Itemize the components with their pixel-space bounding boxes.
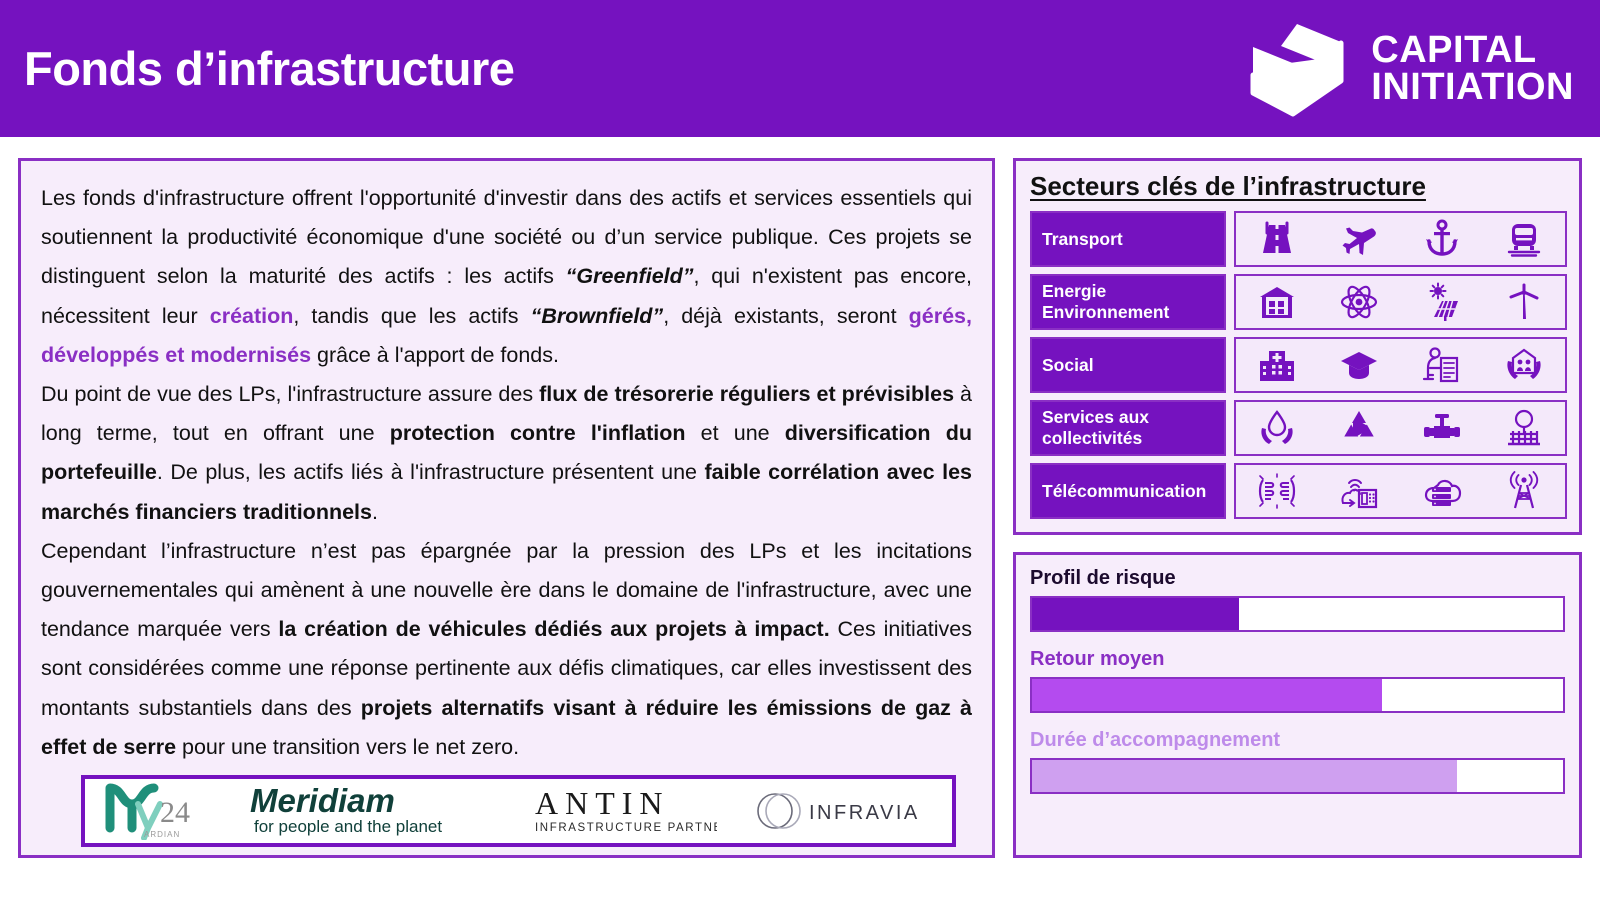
meter-label-profil-de-risque: Profil de risque (1030, 567, 1565, 590)
creation-highlight: création (210, 304, 294, 328)
brand-line-2: INITIATION (1371, 69, 1574, 105)
recycling-icon (1339, 408, 1379, 448)
protection-inflation-bold: protection contre l'inflation (390, 421, 686, 445)
brand-lockup: CAPITAL INITIATION (1237, 21, 1574, 117)
body-text: Les fonds d'infrastructure offrent l'opp… (21, 161, 992, 771)
meter-retour-moyen: Retour moyen (1030, 648, 1565, 713)
page-header: Fonds d’infrastructure CAPITAL INITIATIO… (0, 0, 1600, 137)
highway-icon (1257, 219, 1297, 259)
svg-text:ANTIN: ANTIN (535, 785, 670, 821)
sector-row-telecom: Télécommunication (1030, 463, 1567, 519)
sector-icons-telecom (1234, 463, 1567, 519)
p2-part-a: Du point de vue des LPs, l'infrastructur… (41, 382, 539, 406)
main-text-panel: Les fonds d'infrastructure offrent l'opp… (18, 158, 995, 858)
meter-track-retour-moyen (1030, 677, 1565, 713)
pipeline-valve-icon (1422, 408, 1462, 448)
water-drop-hands-icon (1257, 408, 1297, 448)
sector-icons-services (1234, 400, 1567, 456)
slide-root: Fonds d’infrastructure CAPITAL INITIATIO… (0, 0, 1600, 900)
sector-label-energie-line2: Environnement (1042, 302, 1169, 323)
paragraph-2: Du point de vue des LPs, l'infrastructur… (41, 375, 972, 532)
fiber-optic-icon (1257, 471, 1297, 511)
svg-text:24: 24 (160, 796, 190, 829)
page-title: Fonds d’infrastructure (24, 41, 514, 96)
sector-icons-transport (1234, 211, 1567, 267)
brand-name: CAPITAL INITIATION (1371, 32, 1574, 104)
meter-label-duree-accompagnement: Durée d’accompagnement (1030, 729, 1565, 752)
partner-logo-strip: 24 ARDIAN Meridiam for people and the pl… (81, 775, 956, 847)
sector-label-services-line2: collectivités (1042, 428, 1149, 449)
sector-row-services: Services aux collectivités (1030, 400, 1567, 456)
key-sectors-panel: Secteurs clés de l’infrastructure Transp… (1013, 158, 1582, 535)
svg-text:INFRASTRUCTURE PARTNERS: INFRASTRUCTURE PARTNERS (535, 822, 717, 834)
svg-text:Meridiam: Meridiam (250, 782, 395, 819)
airplane-icon (1339, 219, 1379, 259)
logo-infravia: INFRAVIA (747, 779, 937, 843)
anchor-icon (1422, 219, 1462, 259)
svg-text:INFRAVIA: INFRAVIA (809, 802, 920, 824)
sector-label-services-line1: Services aux (1042, 407, 1149, 428)
sector-row-energie: Energie Environnement (1030, 274, 1567, 330)
hy24-ardian-logo: 24 ARDIAN (100, 782, 218, 840)
risk-profile-panel: Profil de risque Retour moyen Durée d’ac… (1013, 552, 1582, 858)
sector-icons-energie (1234, 274, 1567, 330)
meter-fill-retour-moyen (1032, 679, 1382, 711)
care-hands-family-icon (1504, 345, 1544, 385)
antin-logo: ANTIN INFRASTRUCTURE PARTNERS (527, 783, 717, 839)
train-icon (1504, 219, 1544, 259)
solar-panel-icon (1422, 282, 1462, 322)
sector-label-social: Social (1030, 337, 1226, 393)
meter-track-duree-accompagnement (1030, 758, 1565, 794)
atom-icon (1339, 282, 1379, 322)
sector-icons-social (1234, 337, 1567, 393)
logo-hy24: 24 ARDIAN (100, 779, 218, 843)
sector-row-transport: Transport (1030, 211, 1567, 267)
power-plant-icon (1257, 282, 1297, 322)
cloud-server-icon (1422, 471, 1462, 511)
p2-part-e: . (372, 500, 378, 524)
paragraph-3: Cependant l’infrastructure n’est pas épa… (41, 532, 972, 767)
brownfield-term: “Brownfield” (531, 304, 664, 328)
infravia-logo: INFRAVIA (747, 785, 937, 837)
park-fence-icon (1504, 408, 1544, 448)
logo-antin: ANTIN INFRASTRUCTURE PARTNERS (527, 779, 717, 843)
p2-part-c: et une (686, 421, 785, 445)
meter-label-retour-moyen: Retour moyen (1030, 648, 1565, 671)
meter-profil-de-risque: Profil de risque (1030, 567, 1565, 632)
hospital-icon (1257, 345, 1297, 385)
flux-tresorerie-bold: flux de trésorerie réguliers et prévisib… (539, 382, 954, 406)
creation-vehicules-bold: la création de véhicules dédiés aux proj… (278, 617, 829, 641)
p1-part-c: , tandis que les actifs (293, 304, 530, 328)
meter-fill-duree-accompagnement (1032, 760, 1457, 792)
p1-part-e: grâce à l'apport de fonds. (311, 343, 559, 367)
meter-track-profil-de-risque (1030, 596, 1565, 632)
office-worker-icon (1422, 345, 1462, 385)
graduation-cap-icon (1339, 345, 1379, 385)
p2-part-d: . De plus, les actifs liés à l'infrastru… (157, 460, 705, 484)
wireless-phone-icon (1339, 471, 1379, 511)
sectors-title: Secteurs clés de l’infrastructure (1030, 171, 1567, 202)
paragraph-1: Les fonds d'infrastructure offrent l'opp… (41, 179, 972, 375)
sector-label-energie: Energie Environnement (1030, 274, 1226, 330)
greenfield-term: “Greenfield” (566, 264, 694, 288)
sector-label-telecom: Télécommunication (1030, 463, 1226, 519)
p3-part-c: pour une transition vers le net zero. (176, 735, 519, 759)
svg-text:ARDIAN: ARDIAN (144, 830, 180, 839)
logo-meridiam: Meridiam for people and the planet (248, 779, 498, 843)
sector-row-social: Social (1030, 337, 1567, 393)
sector-label-transport: Transport (1030, 211, 1226, 267)
sector-label-energie-line1: Energie (1042, 281, 1169, 302)
meter-duree-accompagnement: Durée d’accompagnement (1030, 729, 1565, 794)
antenna-tower-icon (1504, 471, 1544, 511)
wind-turbine-icon (1504, 282, 1544, 322)
capital-initiation-cube-logo (1237, 21, 1355, 117)
p1-part-d: , déjà existants, seront (663, 304, 908, 328)
svg-text:for people and the planet: for people and the planet (254, 817, 442, 836)
sector-label-services: Services aux collectivités (1030, 400, 1226, 456)
brand-line-1: CAPITAL (1371, 32, 1574, 68)
meridiam-logo: Meridiam for people and the planet (248, 782, 498, 840)
meter-fill-profil-de-risque (1032, 598, 1239, 630)
